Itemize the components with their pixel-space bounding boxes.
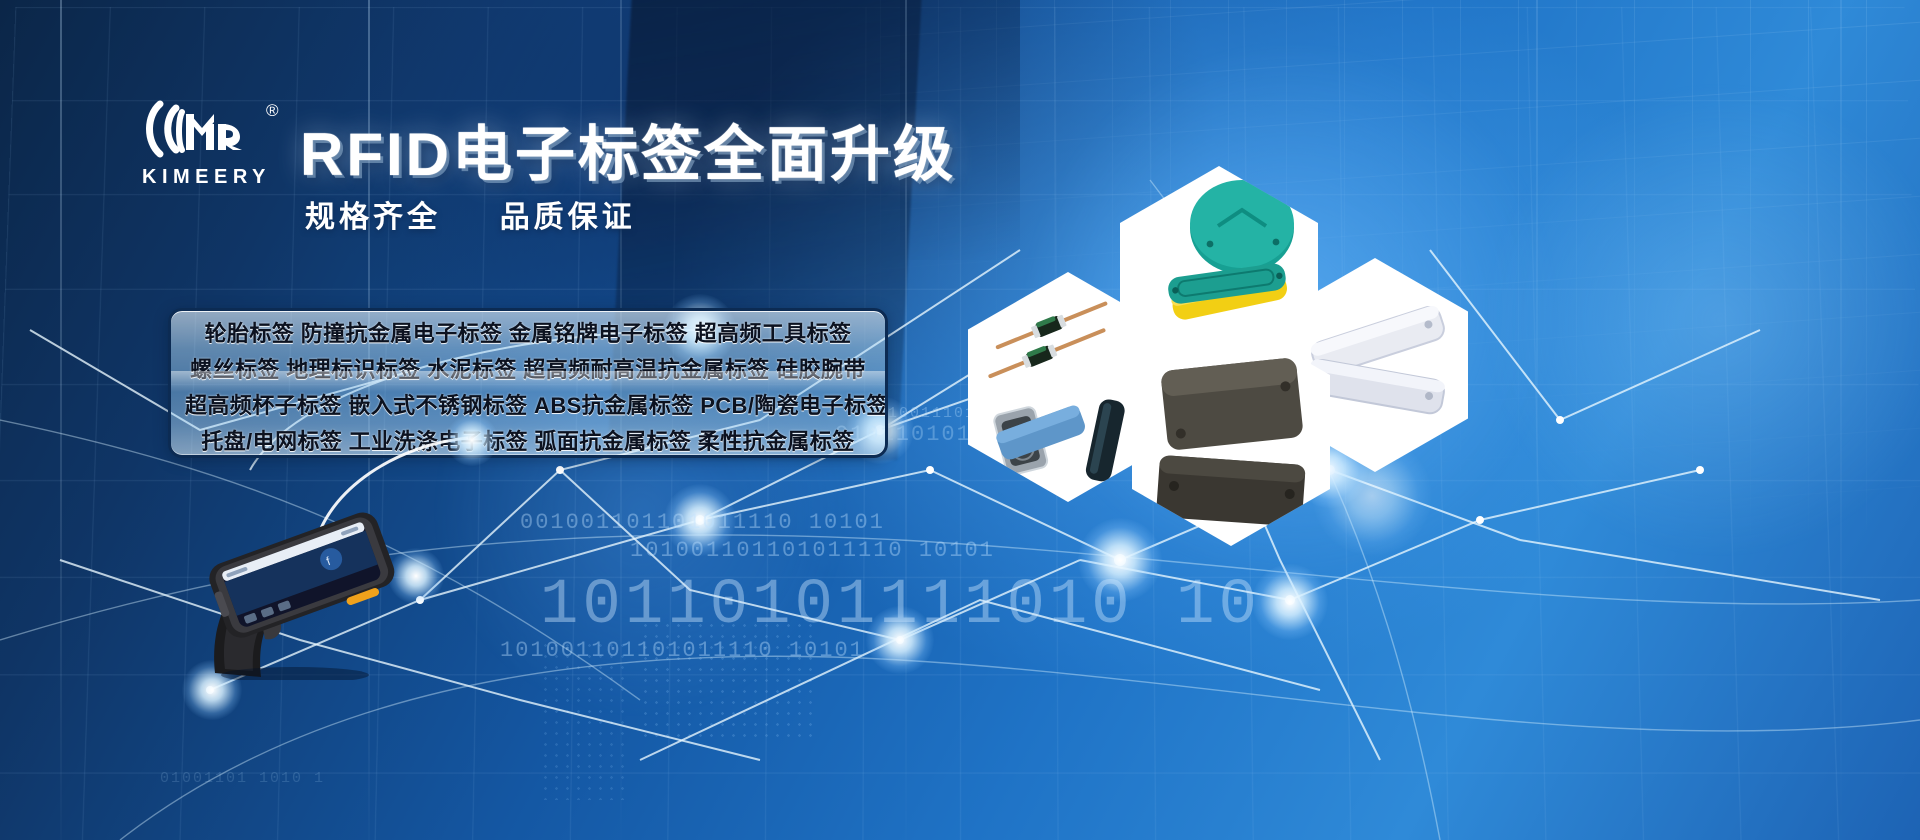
product-list-row: 螺丝标签 地理标识标签 水泥标签 超高频耐高温抗金属标签 硅胶腕带: [185, 352, 871, 388]
binary-decor-large: 10110101111010 10: [540, 570, 1261, 642]
rfid-wave-logo-icon: [138, 98, 270, 160]
binary-decor-row: 01001101 1010 1: [160, 770, 325, 787]
registered-trademark-icon: ®: [266, 102, 279, 119]
subtitle-line: 规格齐全 品质保证: [305, 192, 636, 236]
rfid-promo-banner: 10110101111010 10 001001101101011110 101…: [0, 0, 1920, 840]
binary-decor-row: 001001101101011110 10101: [520, 510, 885, 535]
binary-decor-row: 101001101101011110 10101: [500, 638, 865, 663]
kimeery-logo[interactable]: ® KIMEERY: [138, 98, 286, 194]
binary-decor-row: 101001101101011110 10101: [630, 538, 995, 563]
handheld-rfid-reader[interactable]: f: [185, 505, 400, 680]
subtitle-left: 规格齐全: [305, 201, 441, 234]
product-list-row: 轮胎标签 防撞抗金属电子标签 金属铭牌电子标签 超高频工具标签: [185, 316, 871, 352]
page-title: RFID电子标签全面升级: [300, 106, 956, 193]
product-list-row: 超高频杯子标签 嵌入式不锈钢标签 ABS抗金属标签 PCB/陶瓷电子标签: [185, 388, 871, 424]
brand-wordmark: KIMEERY: [142, 166, 271, 189]
subtitle-right: 品质保证: [500, 201, 636, 234]
handheld-rfid-reader-illustration: f: [185, 505, 400, 680]
